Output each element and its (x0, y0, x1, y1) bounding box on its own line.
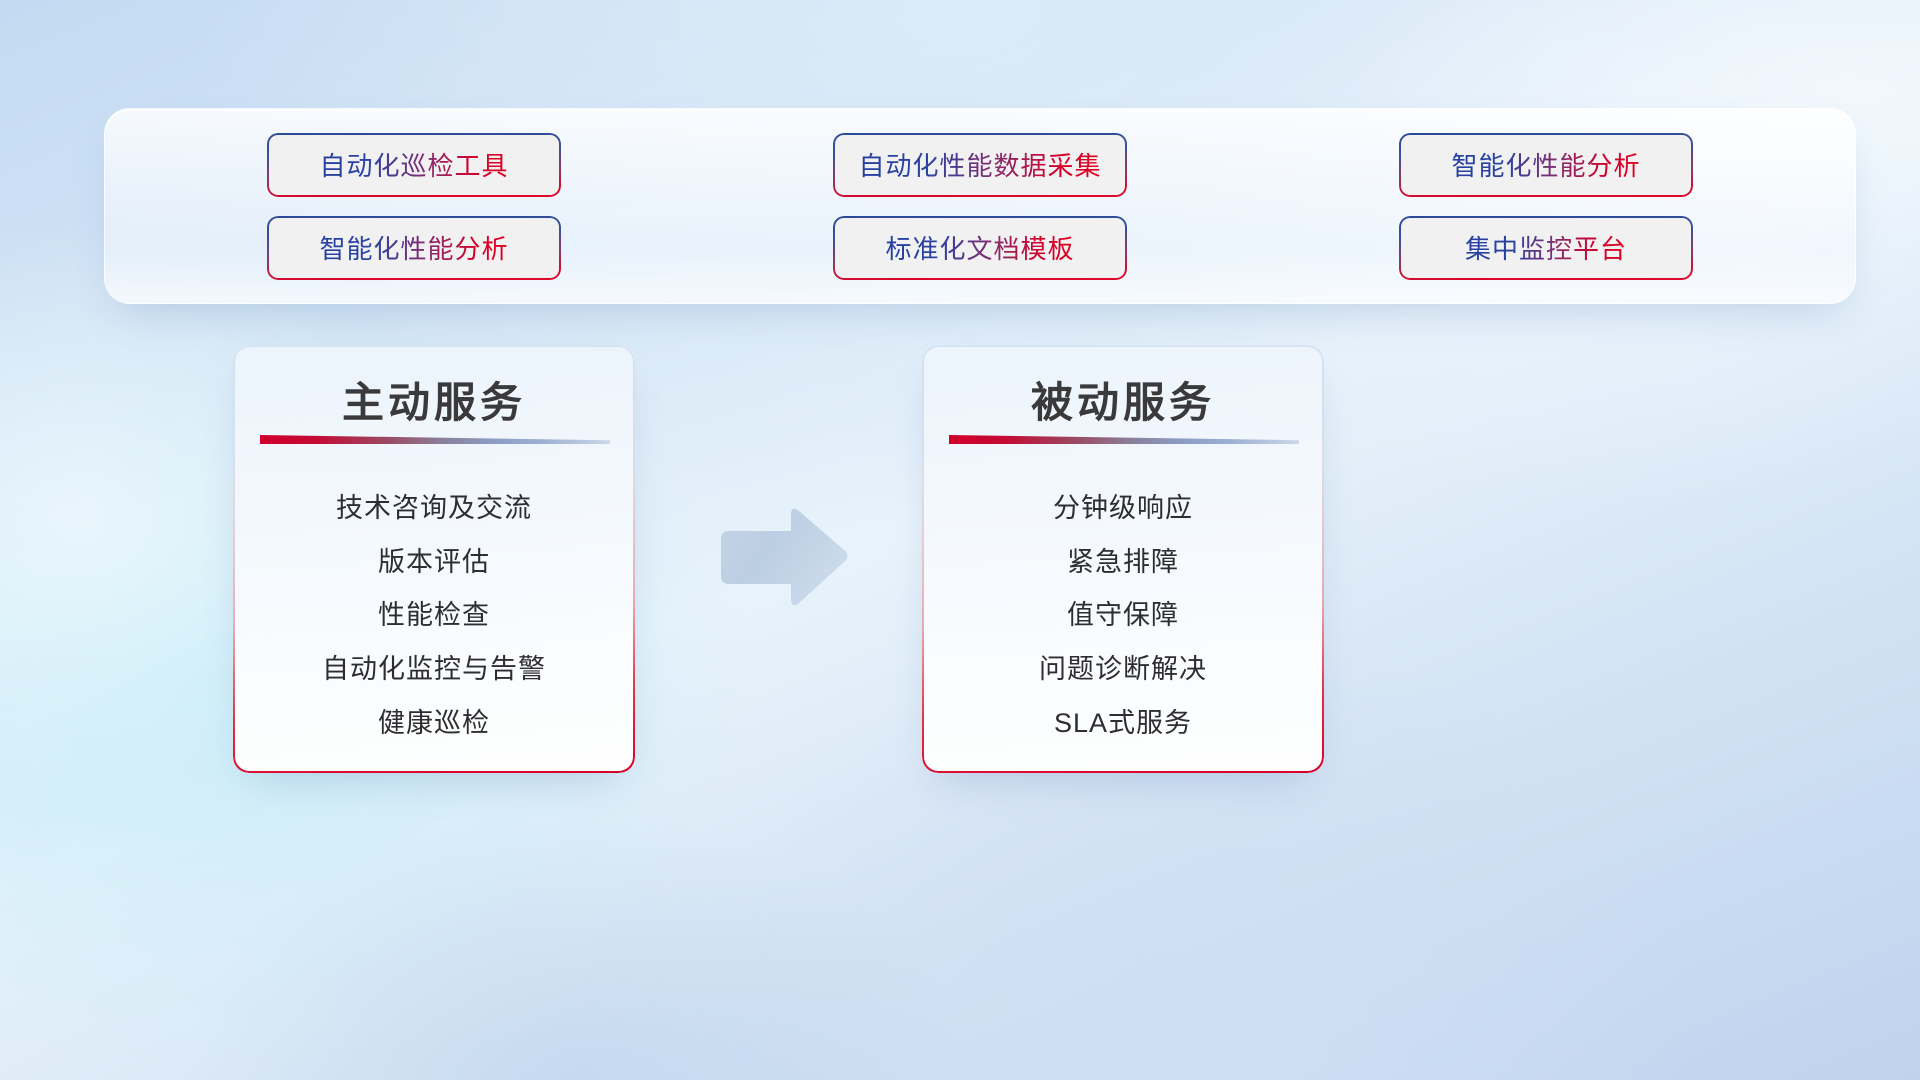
card-title: 被动服务 (922, 369, 1324, 430)
service-card-reactive: 被动服务 分钟级响应 紧急排障 值守保障 问题诊断解决 SLA式服务 (922, 345, 1324, 773)
list-item: 版本评估 (378, 540, 490, 579)
card-divider (260, 435, 610, 444)
card-divider (949, 435, 1299, 444)
list-item: 分钟级响应 (1053, 486, 1193, 525)
capability-tag[interactable]: 智能化性能分析 (267, 216, 561, 280)
list-item: 值守保障 (1067, 593, 1179, 632)
list-item: 紧急排障 (1067, 540, 1179, 579)
right-arrow-icon (717, 503, 851, 613)
capability-tag-grid: 自动化巡检工具 自动化性能数据采集 智能化性能分析 智能化性能分析 标准化文档模… (131, 129, 1829, 283)
capability-tag-label: 智能化性能分析 (319, 229, 508, 266)
capability-tag-label: 自动化性能数据采集 (858, 146, 1101, 183)
capability-tag-label: 智能化性能分析 (1451, 146, 1640, 183)
capability-tag[interactable]: 自动化性能数据采集 (833, 133, 1127, 197)
capability-tag[interactable]: 标准化文档模板 (833, 216, 1127, 280)
service-card-proactive: 主动服务 技术咨询及交流 版本评估 性能检查 自动化监控与告警 健康巡检 (233, 345, 635, 773)
capability-tags-panel: 自动化巡检工具 自动化性能数据采集 智能化性能分析 智能化性能分析 标准化文档模… (104, 108, 1856, 304)
capability-tag-label: 标准化文档模板 (885, 229, 1074, 266)
slide-canvas: 自动化巡检工具 自动化性能数据采集 智能化性能分析 智能化性能分析 标准化文档模… (0, 0, 1920, 1080)
card-title: 主动服务 (233, 369, 635, 430)
list-item: 问题诊断解决 (1039, 647, 1207, 686)
list-item: 技术咨询及交流 (336, 486, 532, 525)
capability-tag[interactable]: 自动化巡检工具 (267, 133, 561, 197)
capability-tag[interactable]: 集中监控平台 (1399, 216, 1693, 280)
list-item: 自动化监控与告警 (322, 647, 546, 686)
card-item-list: 分钟级响应 紧急排障 值守保障 问题诊断解决 SLA式服务 (922, 471, 1324, 755)
card-item-list: 技术咨询及交流 版本评估 性能检查 自动化监控与告警 健康巡检 (233, 471, 635, 755)
capability-tag-label: 自动化巡检工具 (319, 146, 508, 183)
capability-tag[interactable]: 智能化性能分析 (1399, 133, 1693, 197)
capability-tag-label: 集中监控平台 (1465, 229, 1627, 266)
list-item: 性能检查 (378, 593, 490, 632)
list-item: SLA式服务 (1054, 701, 1192, 740)
list-item: 健康巡检 (378, 701, 490, 740)
